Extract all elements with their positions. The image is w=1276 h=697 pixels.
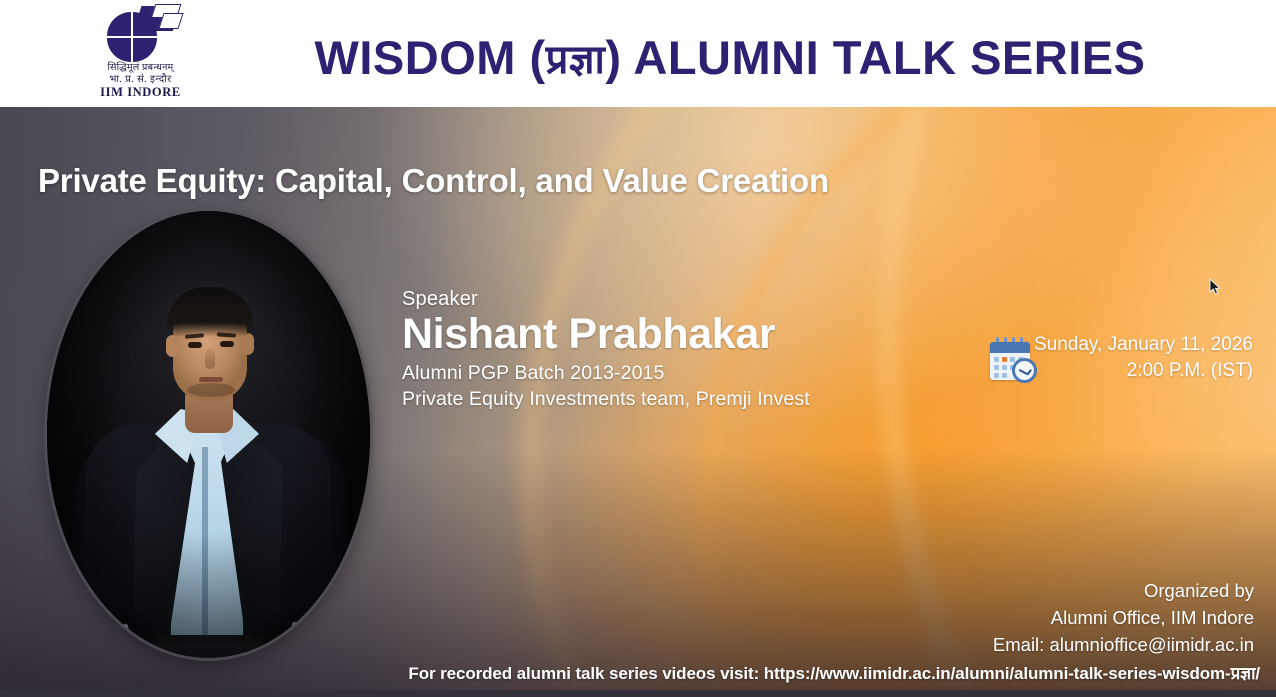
mouse-pointer-icon [1209, 278, 1221, 296]
speaker-info-block: Speaker Nishant Prabhakar Alumni PGP Bat… [402, 288, 810, 411]
speaker-name: Nishant Prabhakar [402, 312, 810, 358]
clock-minute-hand [1019, 369, 1028, 375]
logo-quadrant-top-left [107, 12, 131, 36]
footer-note-suffix: / [1255, 664, 1260, 683]
calendar-cell [1002, 365, 1007, 370]
logo-quadrant-bottom-left [107, 38, 131, 62]
speaker-role: Private Equity Investments team, Premji … [402, 388, 810, 411]
logo-sanskrit-motto: सिद्धिमूलं प्रबन्धनम् [78, 63, 203, 74]
logo-book-flag-icon [137, 4, 181, 34]
calendar-cell [994, 373, 999, 378]
calendar-header-bar [990, 342, 1030, 353]
calendar-cell-highlight [1002, 357, 1007, 362]
calendar-clock-icon [988, 336, 1040, 384]
logo-english-name: IIM INDORE [78, 85, 203, 99]
footer-note-prefix: For recorded alumni talk series videos v… [408, 664, 1230, 683]
schedule-text: Sunday, January 11, 2026 2:00 P.M. (IST) [1034, 332, 1253, 383]
schedule-block: Sunday, January 11, 2026 2:00 P.M. (IST) [988, 332, 1253, 388]
footer-note-devanagari: प्रज्ञा [1231, 664, 1256, 683]
calendar-cell [994, 365, 999, 370]
event-time: 2:00 P.M. (IST) [1034, 358, 1253, 384]
logo-hindi-name: भा. प्र. सं. इन्दौर [78, 74, 203, 85]
organizer-block: Organized by Alumni Office, IIM Indore E… [993, 578, 1254, 658]
calendar-cell [994, 357, 999, 362]
alumni-talk-poster: सिद्धिमूलं प्रबन्धनम् भा. प्र. सं. इन्दौ… [0, 0, 1276, 697]
organizer-email: Email: alumnioffice@iimidr.ac.in [993, 632, 1254, 659]
page-title-devanagari: प्रज्ञा [546, 30, 606, 85]
speaker-label: Speaker [402, 288, 810, 311]
organizer-name: Alumni Office, IIM Indore [993, 605, 1254, 632]
event-date: Sunday, January 11, 2026 [1034, 332, 1253, 358]
iim-indore-logo-icon [101, 4, 181, 62]
bottom-strip [0, 690, 1276, 697]
speaker-batch: Alumni PGP Batch 2013-2015 [402, 362, 810, 385]
page-title-prefix: WISDOM ( [315, 30, 546, 85]
logo-quadrant-bottom-right [133, 38, 157, 62]
header-band: सिद्धिमूलं प्रबन्धनम् भा. प्र. सं. इन्दौ… [0, 0, 1276, 107]
page-title: WISDOM (प्रज्ञा) ALUMNI TALK SERIES [250, 26, 1210, 88]
calendar-cell [1002, 373, 1007, 378]
organizer-label: Organized by [993, 578, 1254, 605]
iim-indore-logo-block: सिद्धिमूलं प्रबन्धनम् भा. प्र. सं. इन्दौ… [78, 2, 203, 105]
portrait-vignette [47, 211, 370, 658]
page-title-suffix: ) ALUMNI TALK SERIES [605, 30, 1145, 85]
talk-title: Private Equity: Capital, Control, and Va… [38, 162, 829, 200]
logo-flag-segment-d [158, 13, 183, 29]
footer-recordings-note: For recorded alumni talk series videos v… [0, 661, 1260, 684]
speaker-portrait [47, 211, 370, 658]
